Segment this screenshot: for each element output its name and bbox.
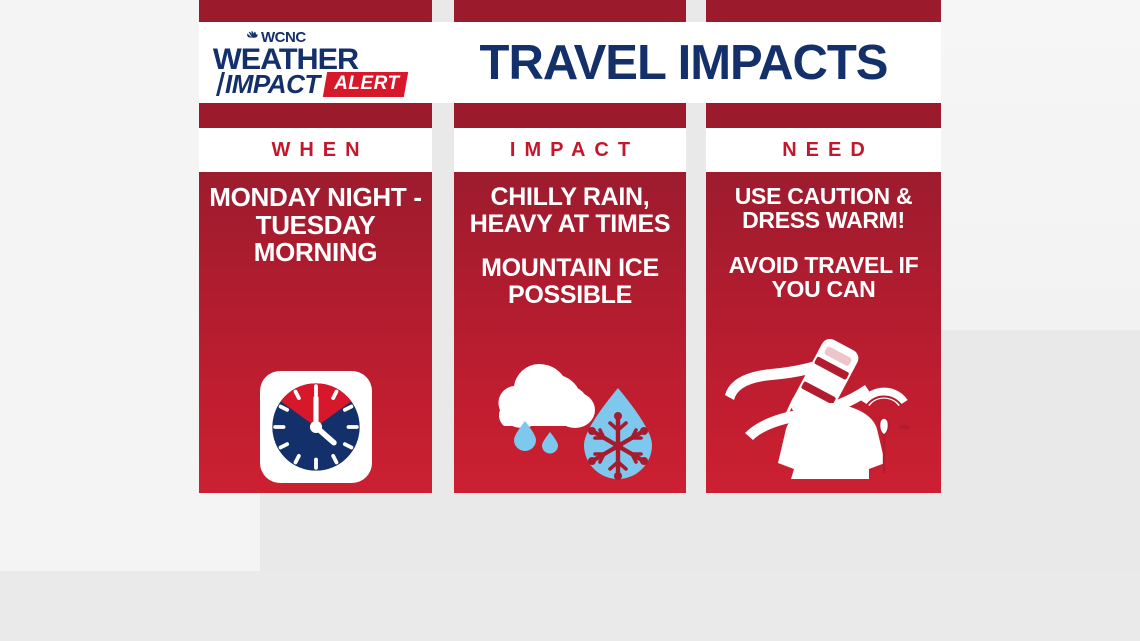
column-header-label-when: WHEN [262, 140, 368, 160]
top-accent-bar-1 [199, 0, 432, 22]
column-header-impact: IMPACT [454, 128, 686, 172]
logo-alert-text: ALERT [334, 73, 399, 95]
rain-cloud-shape [498, 364, 595, 428]
when-text: MONDAY NIGHT - TUESDAY MORNING [199, 184, 432, 267]
need-text-2: AVOID TRAVEL IF YOU CAN [706, 253, 941, 302]
raindrop-small [542, 432, 558, 454]
column-accent-bar-impact [454, 103, 686, 128]
travel-impacts-graphic: WCNC WEATHER IMPACT ALERT TRAVEL IMPACTS… [199, 0, 941, 494]
impact-text-1: CHILLY RAIN, HEAVY AT TIMES [454, 184, 686, 237]
logo-slash-icon [215, 72, 225, 96]
background-panel-bottom [0, 571, 1140, 641]
column-panel-impact: CHILLY RAIN, HEAVY AT TIMES MOUNTAIN ICE… [454, 172, 686, 493]
impact-text-2: MOUNTAIN ICE POSSIBLE [454, 255, 686, 308]
logo-weather-text: WEATHER [213, 46, 434, 74]
need-text-1: USE CAUTION & DRESS WARM! [706, 184, 941, 233]
skidding-car-and-jacket-icon [715, 333, 933, 483]
column-panel-when: MONDAY NIGHT - TUESDAY MORNING [199, 172, 432, 493]
impact-icon-wrap [454, 348, 686, 483]
need-icon-wrap [706, 333, 941, 483]
column-header-need: NEED [706, 128, 941, 172]
column-accent-bar-when [199, 103, 432, 128]
background-panel-right [940, 0, 1140, 330]
column-panel-need: USE CAUTION & DRESS WARM! AVOID TRAVEL I… [706, 172, 941, 493]
logo-impact-text: IMPACT [225, 72, 320, 96]
page-title-zone: TRAVEL IMPACTS [432, 38, 941, 88]
rain-cloud-and-ice-droplet-icon [470, 348, 670, 483]
column-header-label-need: NEED [773, 140, 874, 160]
page-title: TRAVEL IMPACTS [480, 38, 888, 88]
column-header-label-impact: IMPACT [501, 140, 639, 160]
top-accent-bar-3 [706, 0, 941, 22]
graphic-header: WCNC WEATHER IMPACT ALERT TRAVEL IMPACTS [199, 22, 941, 103]
pocket-detail [899, 425, 910, 429]
wcnc-weather-impact-alert-logo: WCNC WEATHER IMPACT ALERT [199, 22, 432, 103]
column-header-when: WHEN [199, 128, 432, 172]
clock-icon [260, 371, 372, 483]
ice-droplet-shape [584, 388, 652, 480]
top-accent-bar-2 [454, 0, 686, 22]
logo-alert-badge: ALERT [323, 72, 409, 97]
when-icon-wrap [199, 371, 432, 483]
column-accent-bar-need [706, 103, 941, 128]
